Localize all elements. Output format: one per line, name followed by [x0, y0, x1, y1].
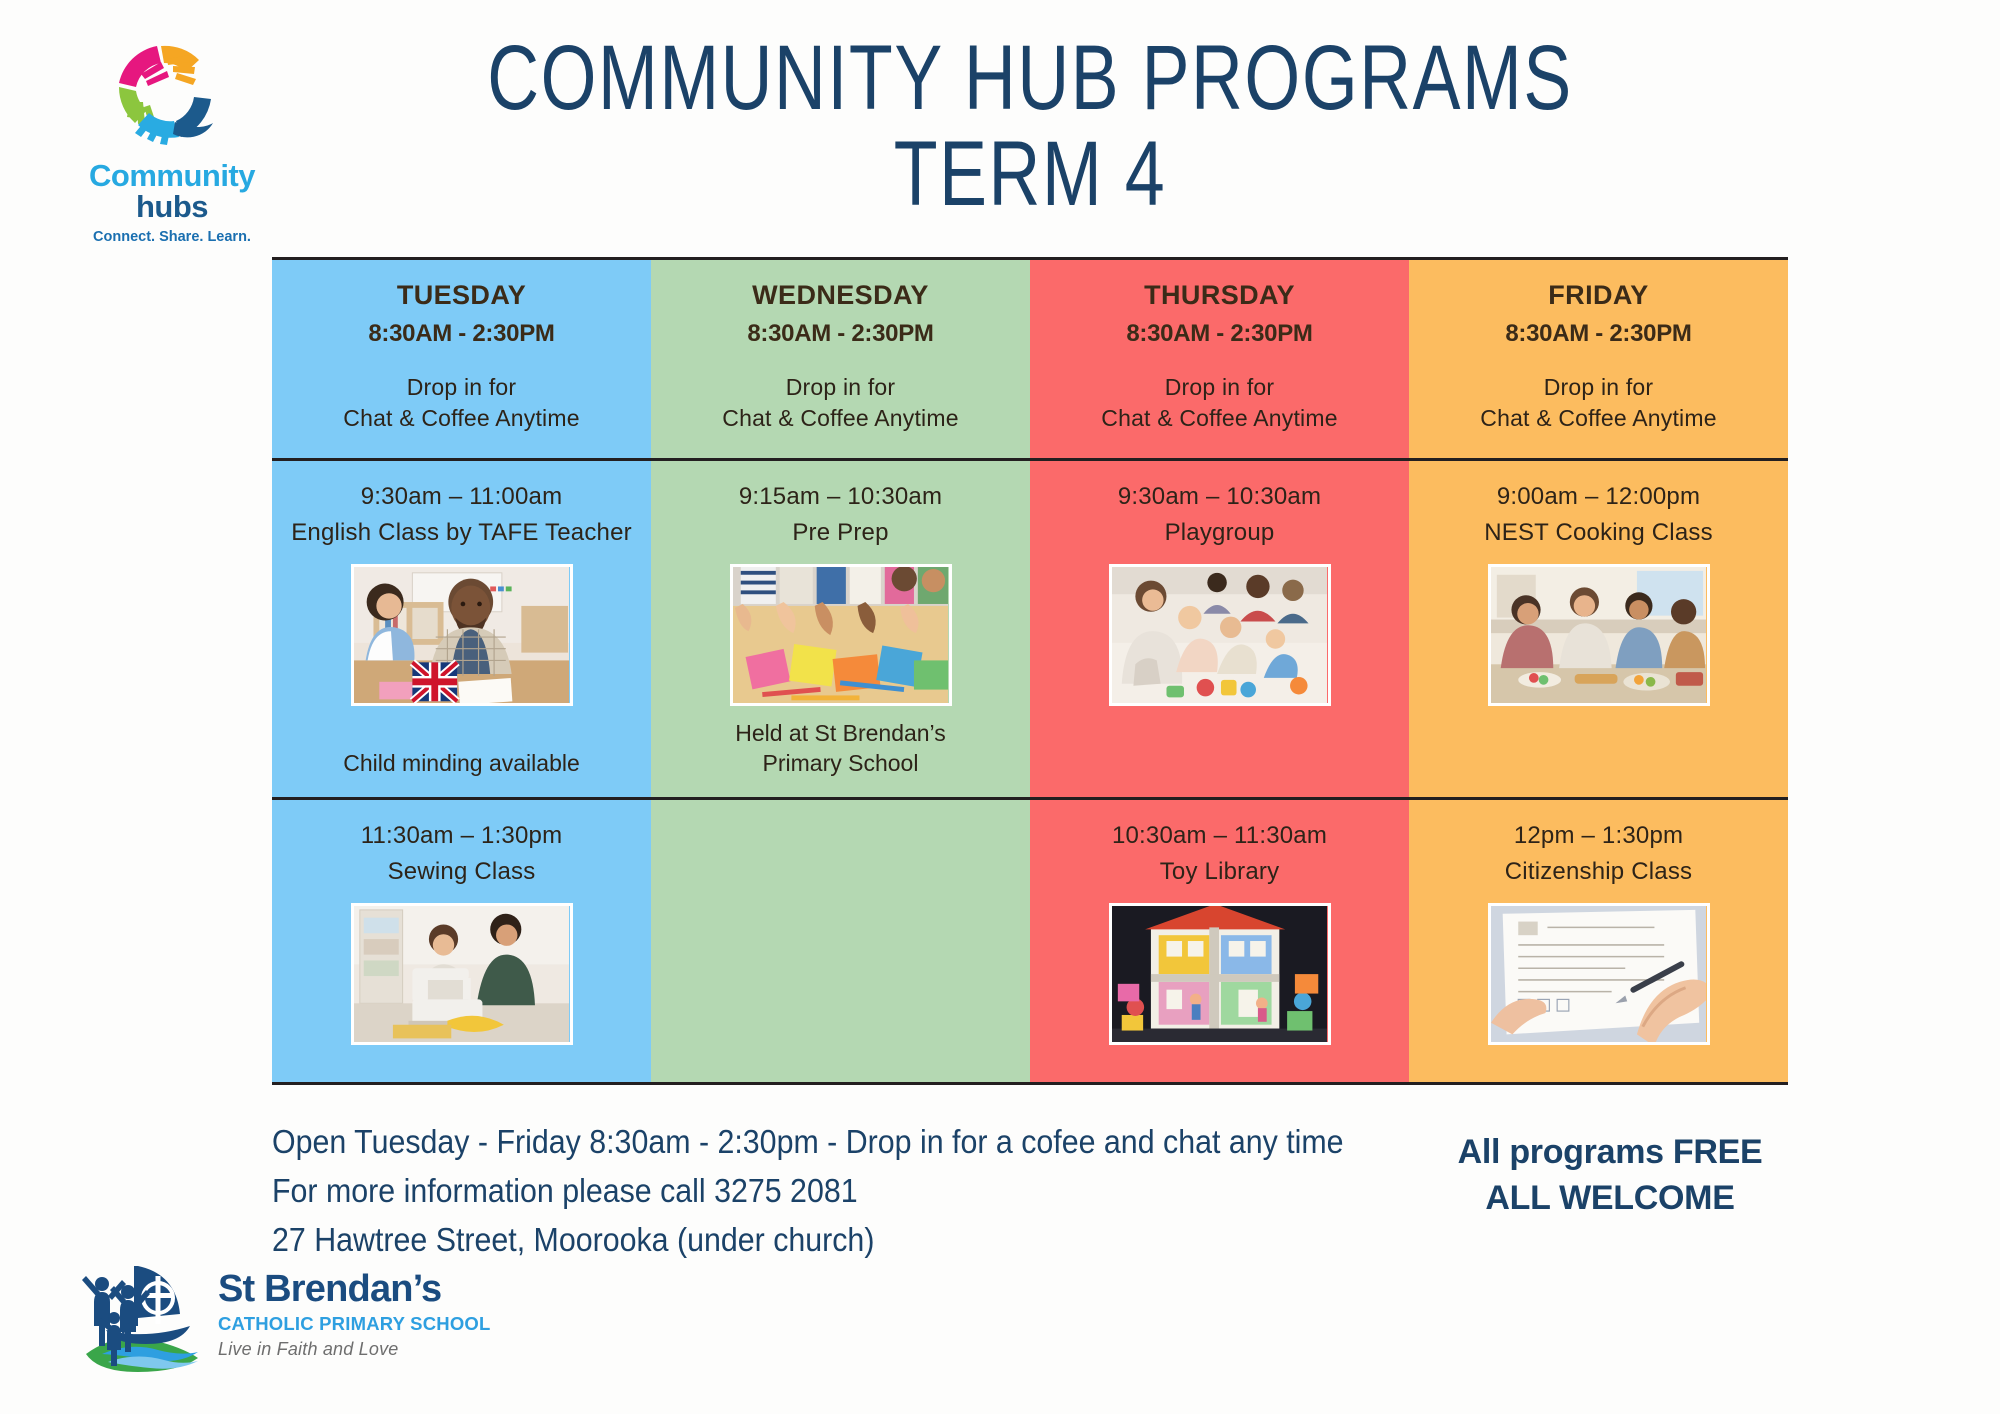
session-cell-wednesday-2-empty [651, 800, 1030, 1082]
footer-info-block: Open Tuesday - Friday 8:30am - 2:30pm - … [272, 1118, 1392, 1264]
day-note-line2: Chat & Coffee Anytime [343, 403, 579, 434]
session-footnote-line2: Primary School [735, 748, 946, 779]
poster-canvas: Community hubs Connect. Share. Learn. CO… [0, 0, 2000, 1414]
hubs-word-line2: hubs [72, 191, 272, 224]
day-hours: 8:30AM - 2:30PM [1505, 320, 1691, 348]
footer-line-2: For more information please call 3275 20… [272, 1167, 1302, 1216]
session-cell-friday-1: 9:00am – 12:00pm NEST Cooking Class [1409, 461, 1788, 797]
day-name: TUESDAY [397, 280, 526, 311]
hubs-word-line1: Community [72, 160, 272, 191]
day-note-line1: Drop in for [1544, 372, 1654, 403]
session-name: Playgroup [1165, 517, 1275, 548]
session-cell-thursday-2: 10:30am – 11:30am Toy Library [1030, 800, 1409, 1082]
day-hours: 8:30AM - 2:30PM [368, 320, 554, 348]
session-time: 11:30am – 1:30pm [361, 822, 563, 850]
title-line-1: COMMUNITY HUB PROGRAMS [461, 32, 1600, 126]
session-cell-tuesday-1: 9:30am – 11:00am English Class by TAFE T… [272, 461, 651, 797]
school-subtitle: CATHOLIC PRIMARY SCHOOL [218, 1312, 491, 1336]
session-cell-tuesday-2: 11:30am – 1:30pm Sewing Class [272, 800, 651, 1082]
day-name: FRIDAY [1548, 280, 1648, 311]
session-cell-friday-2: 12pm – 1:30pm Citizenship Class [1409, 800, 1788, 1082]
session-name: Sewing Class [388, 856, 536, 887]
session-name: English Class by TAFE Teacher [291, 517, 632, 548]
session-cell-wednesday-1: 9:15am – 10:30am Pre Prep [651, 461, 1030, 797]
session-name: Citizenship Class [1505, 856, 1692, 887]
day-note-line1: Drop in for [786, 372, 896, 403]
session-time: 10:30am – 11:30am [1112, 822, 1327, 850]
school-name: St Brendan’s [218, 1270, 491, 1310]
schedule-header-row: TUESDAY 8:30AM - 2:30PM Drop in for Chat… [272, 257, 1788, 458]
session-footnote: Child minding available [343, 736, 580, 779]
session-time: 12pm – 1:30pm [1514, 822, 1683, 850]
title-line-2: TERM 4 [461, 128, 1600, 222]
poster-title: COMMUNITY HUB PROGRAMS TERM 4 [300, 32, 1760, 222]
st-brendans-logo: St Brendan’s CATHOLIC PRIMARY SCHOOL Liv… [78, 1262, 498, 1380]
sewing-class-photo [351, 903, 573, 1045]
english-class-photo [351, 564, 573, 706]
footer-callout: All programs FREE ALL WELCOME [1420, 1130, 1800, 1222]
day-note-line1: Drop in for [407, 372, 517, 403]
community-hubs-logo: Community hubs Connect. Share. Learn. [72, 28, 272, 233]
session-time: 9:15am – 10:30am [739, 483, 942, 511]
playgroup-photo [1109, 564, 1331, 706]
session-name: Pre Prep [792, 517, 888, 548]
day-note-line2: Chat & Coffee Anytime [1480, 403, 1716, 434]
school-tagline: Live in Faith and Love [218, 1339, 491, 1360]
st-brendans-wordmark: St Brendan’s CATHOLIC PRIMARY SCHOOL Liv… [218, 1270, 491, 1360]
day-column-thursday-header: THURSDAY 8:30AM - 2:30PM Drop in for Cha… [1030, 260, 1409, 458]
st-brendans-mark-icon [78, 1262, 208, 1374]
session-time: 9:30am – 11:00am [361, 483, 563, 511]
citizenship-class-photo [1488, 903, 1710, 1045]
day-column-friday-header: FRIDAY 8:30AM - 2:30PM Drop in for Chat … [1409, 260, 1788, 458]
community-hubs-wordmark: Community hubs Connect. Share. Learn. [72, 160, 272, 245]
hubs-tagline: Connect. Share. Learn. [72, 229, 272, 245]
session-footnote: Held at St Brendan’s Primary School [735, 706, 946, 779]
callout-line-2: ALL WELCOME [1420, 1176, 1800, 1222]
session-cell-thursday-1: 9:30am – 10:30am Playgroup [1030, 461, 1409, 797]
schedule-session-row-2: 11:30am – 1:30pm Sewing Class [272, 797, 1788, 1085]
cooking-class-photo [1488, 564, 1710, 706]
session-name: Toy Library [1160, 856, 1280, 887]
day-note-line1: Drop in for [1165, 372, 1275, 403]
day-column-wednesday-header: WEDNESDAY 8:30AM - 2:30PM Drop in for Ch… [651, 260, 1030, 458]
toy-library-photo [1109, 903, 1331, 1045]
day-name: THURSDAY [1144, 280, 1295, 311]
session-time: 9:30am – 10:30am [1118, 483, 1321, 511]
session-footnote-line1: Held at St Brendan’s [735, 718, 946, 749]
day-name: WEDNESDAY [752, 280, 929, 311]
day-hours: 8:30AM - 2:30PM [747, 320, 933, 348]
session-time: 9:00am – 12:00pm [1497, 483, 1700, 511]
pre-prep-photo [730, 564, 952, 706]
day-column-tuesday-header: TUESDAY 8:30AM - 2:30PM Drop in for Chat… [272, 260, 651, 458]
day-note-line2: Chat & Coffee Anytime [1101, 403, 1337, 434]
community-hubs-mark-icon [100, 28, 230, 158]
program-schedule-table: TUESDAY 8:30AM - 2:30PM Drop in for Chat… [272, 257, 1788, 1085]
day-hours: 8:30AM - 2:30PM [1126, 320, 1312, 348]
schedule-session-row-1: 9:30am – 11:00am English Class by TAFE T… [272, 458, 1788, 797]
session-footnote-line1: Child minding available [343, 748, 580, 779]
callout-line-1: All programs FREE [1420, 1130, 1800, 1176]
footer-line-3: 27 Hawtree Street, Moorooka (under churc… [272, 1216, 1302, 1265]
day-note-line2: Chat & Coffee Anytime [722, 403, 958, 434]
footer-line-1: Open Tuesday - Friday 8:30am - 2:30pm - … [272, 1118, 1302, 1167]
session-name: NEST Cooking Class [1484, 517, 1713, 548]
